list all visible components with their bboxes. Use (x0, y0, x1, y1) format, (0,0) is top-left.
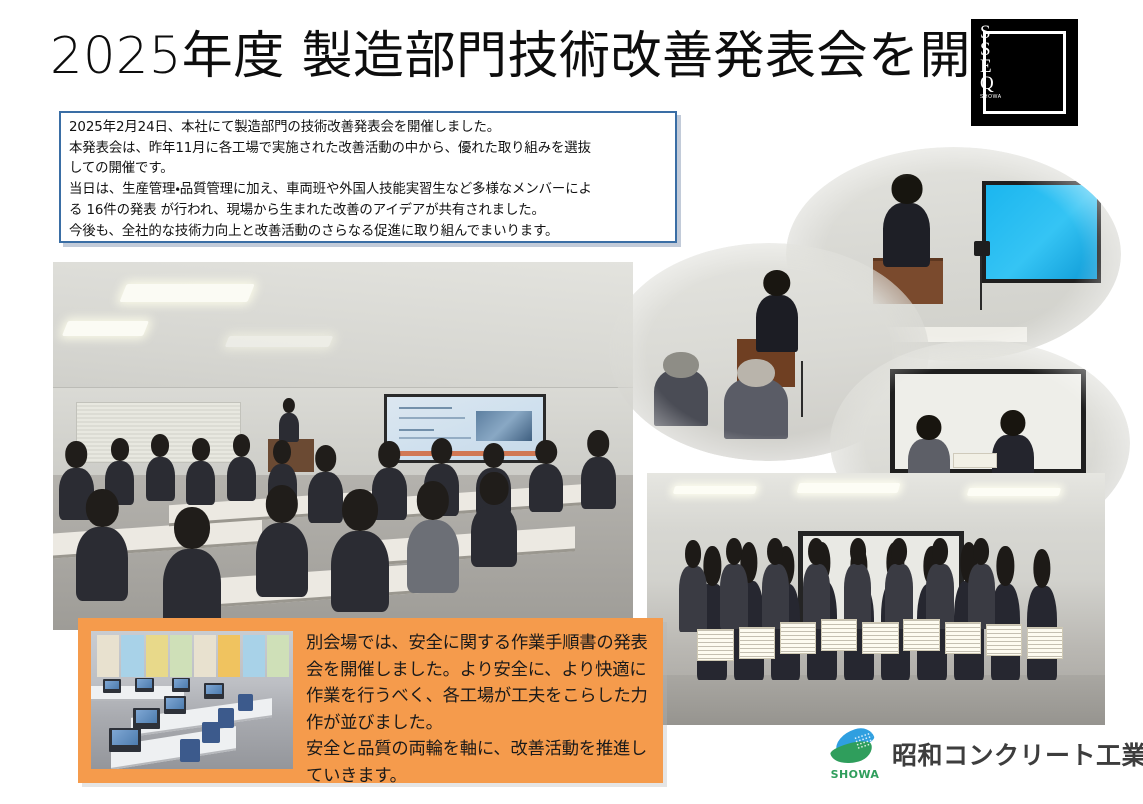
laptop-screen (166, 698, 184, 709)
certificate-icon (780, 622, 816, 654)
chair-icon (238, 694, 252, 711)
head-shape (483, 443, 505, 468)
photo-inset-safety-venue (91, 631, 293, 769)
attendee-figure (186, 461, 215, 505)
head-shape (973, 538, 989, 566)
wall-banner (243, 635, 265, 676)
slide-text-line (399, 417, 465, 419)
wall-banner (97, 635, 119, 676)
camera-tripod (801, 361, 803, 418)
head-shape (932, 538, 948, 566)
wall-banner (170, 635, 192, 676)
head-shape (763, 270, 790, 296)
ceiling-light-icon (967, 488, 1061, 496)
certificate-icon (862, 622, 898, 654)
floor-region (647, 675, 1105, 725)
wall-banner (146, 635, 168, 676)
head-shape (1033, 549, 1050, 588)
wall-banner (218, 635, 240, 676)
head-shape (233, 434, 251, 457)
group-member-figure (968, 564, 995, 630)
head-shape (891, 538, 907, 566)
presenter-figure (756, 295, 798, 352)
laptop-screen (105, 681, 120, 690)
laptop-icon (103, 679, 121, 693)
head-shape (266, 485, 298, 523)
presenter-figure (279, 413, 299, 442)
certificate-icon (903, 619, 939, 651)
head-shape (417, 481, 449, 519)
head-shape (726, 538, 742, 566)
attendee-figure (407, 520, 459, 594)
camera-tripod (980, 254, 982, 310)
slide-text-line (399, 407, 452, 409)
laptop-screen (137, 679, 152, 688)
wall-banner (194, 635, 216, 676)
ceiling-light-icon (62, 321, 149, 336)
head-shape (916, 415, 941, 440)
sseq-letter-4: Q (980, 75, 994, 92)
poster-page: 2025年度 製造部門技術改善発表会を開催！ S S E Q SHOWA 202… (0, 0, 1143, 804)
certificate-icon (953, 453, 997, 467)
head-shape (685, 540, 701, 568)
attendee-figure (331, 531, 389, 612)
certificate-icon (739, 627, 775, 659)
head-shape (111, 438, 129, 461)
sseq-logo-subtext: SHOWA (980, 94, 1002, 100)
showa-logo-label: SHOWA (826, 768, 884, 781)
certificate-icon (945, 622, 981, 654)
head-shape (86, 489, 118, 527)
laptop-icon (164, 696, 186, 714)
attendee-figure (471, 505, 517, 568)
laptop-screen (174, 679, 189, 688)
head-shape (273, 440, 291, 465)
company-name: 昭和コンクリート工業株式会社 (892, 736, 1143, 772)
head-shape (535, 440, 557, 465)
photo-group-award-winners (647, 473, 1105, 725)
head-shape (997, 546, 1014, 586)
certificate-icon (1027, 627, 1063, 659)
projection-screen (384, 394, 547, 463)
chair-icon (218, 708, 234, 727)
camera-icon (974, 241, 991, 256)
ceiling-region (647, 473, 1105, 528)
page-title: 2025年度 製造部門技術改善発表会を開催！ (50, 28, 950, 85)
sseq-logo-letters: S S E Q (980, 24, 994, 92)
slide-image (476, 411, 532, 441)
head-shape (479, 472, 508, 505)
photo-main-seminar (53, 262, 633, 630)
certificate-icon (821, 619, 857, 651)
ceiling-light-icon (673, 486, 758, 494)
laptop-icon (109, 728, 141, 753)
group-member-figure (679, 566, 706, 632)
intro-callout-box: 2025年2月24日、本社にて製造部門の技術改善発表会を開催しました。 本発表会… (59, 111, 677, 243)
head-shape (151, 434, 169, 457)
attendee-figure (529, 464, 564, 512)
laptop-screen (206, 685, 222, 694)
attendee-figure (308, 472, 343, 524)
presenter-figure (883, 203, 930, 267)
head-shape (587, 430, 609, 457)
safety-callout-text: 別会場では、安全に関する作業手順書の発表 会を開催しました。より安全に、より快適… (306, 630, 653, 789)
wall-banner (121, 635, 143, 676)
head-shape (663, 352, 698, 378)
head-shape (850, 538, 866, 566)
head-shape (342, 489, 378, 531)
laptop-icon (133, 708, 159, 729)
sseq-logo: S S E Q SHOWA (971, 19, 1078, 126)
head-shape (891, 174, 922, 204)
slide-accent-band (387, 451, 544, 456)
head-shape (767, 538, 783, 566)
group-member-figure (762, 564, 789, 630)
ceiling-light-icon (225, 336, 334, 347)
head-shape (192, 438, 210, 461)
laptop-screen (112, 730, 138, 745)
laptop-icon (172, 678, 190, 692)
corporate-logo: SHOWA 昭和コンクリート工業株式会社 (826, 724, 1106, 786)
ceiling-light-icon (797, 483, 901, 493)
head-shape (431, 438, 453, 465)
head-shape (808, 538, 824, 566)
laptop-screen (136, 710, 157, 723)
certificate-icon (697, 629, 733, 661)
safety-callout-box: 別会場では、安全に関する作業手順書の発表 会を開催しました。より安全に、より快適… (78, 618, 663, 783)
sseq-logo-frame (983, 31, 1066, 114)
intro-body-text: 2025年2月24日、本社にて製造部門の技術改善発表会を開催しました。 本発表会… (69, 118, 671, 242)
head-shape (737, 359, 775, 387)
attendee-figure (724, 378, 788, 439)
head-shape (65, 441, 87, 468)
chair-icon (202, 722, 220, 743)
attendee-figure (76, 527, 128, 601)
head-shape (315, 445, 337, 472)
wall-banner (267, 635, 289, 676)
laptop-icon (135, 678, 153, 692)
ceiling-light-icon (119, 284, 254, 302)
certificate-icon (986, 624, 1022, 656)
head-shape (174, 507, 210, 549)
slide-text-line (399, 429, 433, 431)
attendee-figure (581, 457, 616, 509)
attendee-figure (227, 457, 256, 501)
attendee-figure (146, 457, 175, 501)
chair-icon (180, 739, 200, 762)
attendee-figure (256, 523, 308, 597)
head-shape (379, 441, 401, 468)
laptop-icon (204, 683, 224, 698)
projection-screen (982, 181, 1101, 283)
group-member-figure (720, 564, 747, 630)
